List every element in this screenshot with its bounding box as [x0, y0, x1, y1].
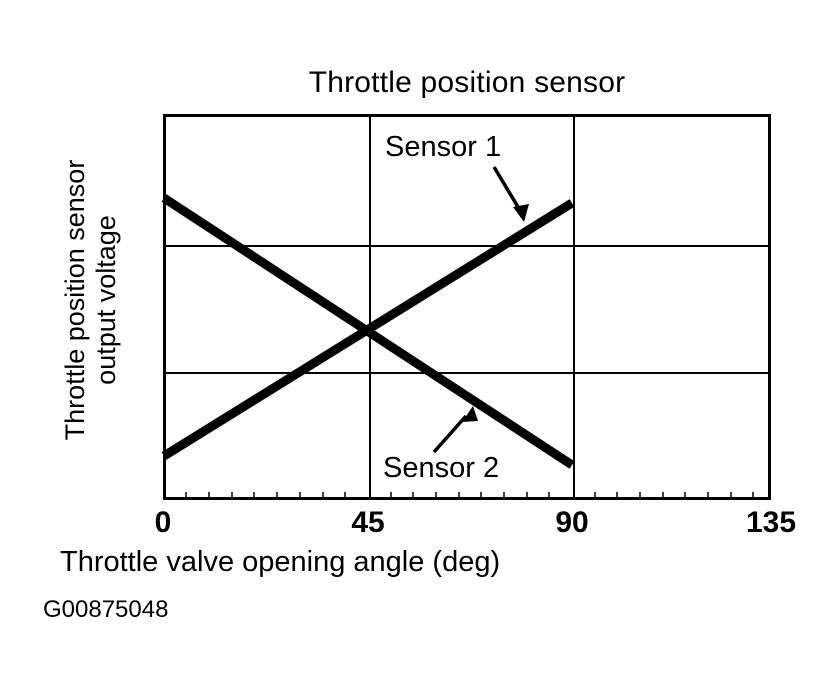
series-label-sensor-2: Sensor 2	[383, 452, 499, 485]
gridline-x-90	[573, 117, 575, 497]
chart-figure: Throttle position sensor Throttle positi…	[0, 0, 817, 700]
gridline-y-4	[166, 245, 768, 247]
x-tick-label-90: 90	[542, 506, 602, 540]
x-tick-label-45: 45	[338, 506, 398, 540]
x-tick-label-0: 0	[143, 506, 183, 540]
y-axis-title-line-2: output voltage	[91, 215, 122, 385]
plot-area	[163, 114, 771, 500]
x-tick-label-135: 135	[729, 506, 813, 540]
x-axis-title: Throttle valve opening angle (deg)	[60, 546, 500, 579]
gridline-x-45	[369, 117, 371, 497]
figure-id-label: G00875048	[43, 596, 168, 624]
chart-title: Throttle position sensor	[163, 66, 771, 100]
y-axis-title-line-1: Throttle position sensor	[60, 160, 91, 441]
series-label-sensor-1: Sensor 1	[385, 131, 501, 164]
gridline-y-2	[166, 372, 768, 374]
